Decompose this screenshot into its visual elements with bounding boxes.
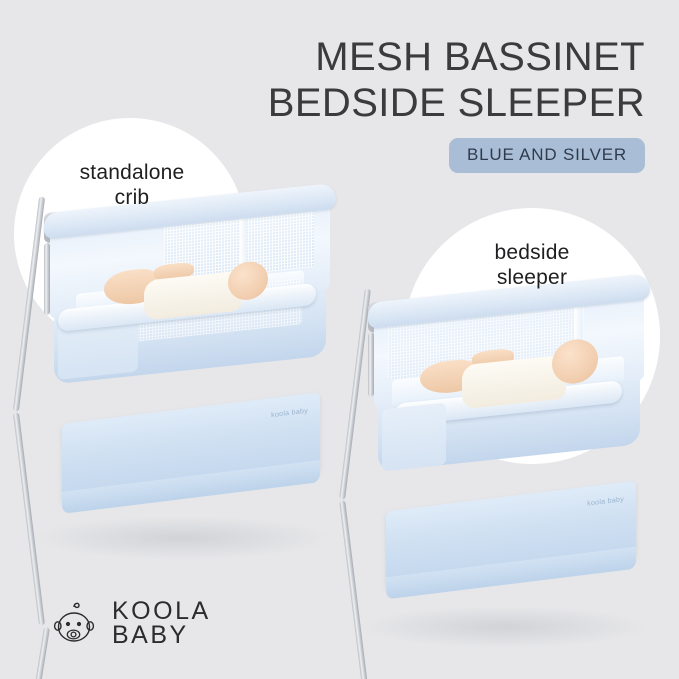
storage-shelf: koola baby (62, 392, 320, 504)
brand-word-baby: BABY (112, 623, 211, 647)
baby-face-icon (48, 597, 100, 649)
storage-shelf: koola baby (386, 481, 636, 590)
product-left-standalone-crib: koola baby (26, 196, 346, 556)
page-title: MESH BASSINET BEDSIDE SLEEPER (225, 34, 645, 126)
title-line-2: BEDSIDE SLEEPER (225, 80, 645, 126)
ground-shadow (358, 606, 650, 648)
brand-logo: KOOLA BABY (48, 597, 211, 649)
brand-wordmark: KOOLA BABY (112, 599, 211, 647)
title-line-1: MESH BASSINET (225, 34, 645, 80)
product-right-bedside-sleeper: koola baby (352, 288, 664, 644)
leg-rear-right (339, 500, 371, 679)
baby-body (462, 354, 566, 409)
baby-head (228, 260, 268, 302)
callout-label-standalone: standalone crib (52, 160, 212, 210)
brand-word-koola: KOOLA (112, 599, 211, 623)
leg-rear-right (13, 412, 45, 625)
leg-front-left-a (8, 627, 50, 679)
status-badge: BLUE AND SILVER (449, 138, 645, 173)
callout-label-bedside: bedside sleeper (444, 240, 620, 290)
ground-shadow (32, 516, 332, 560)
product-marketing-image: MESH BASSINET BEDSIDE SLEEPER BLUE AND S… (0, 0, 679, 679)
baby-head (552, 337, 598, 386)
color-badge-container: BLUE AND SILVER (449, 138, 645, 173)
